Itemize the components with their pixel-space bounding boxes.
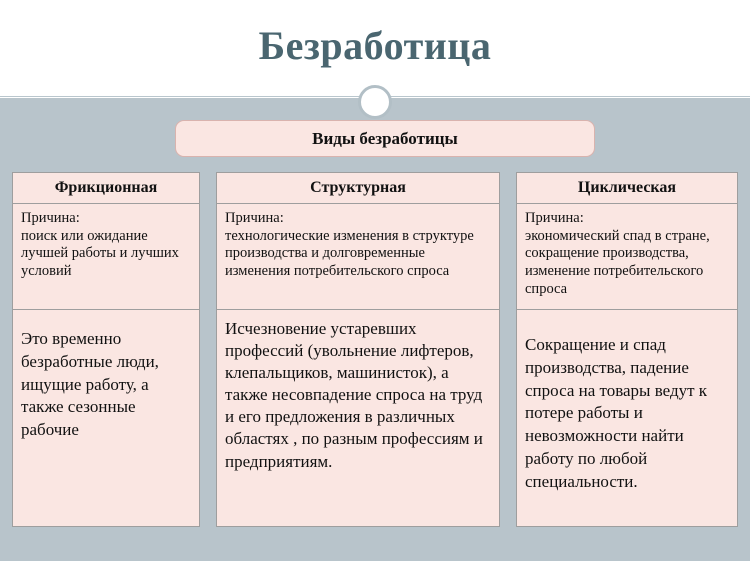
column-structural-description: Исчезновение устаревших профессий (уволь… [216, 310, 500, 527]
diagram-root-label: Виды безработицы [312, 129, 458, 149]
column-cyclical: Циклическая Причина: экономический спад … [516, 172, 738, 527]
column-frictional-cause: Причина: поиск или ожидание лучшей работ… [12, 204, 200, 310]
connector-branch-right [626, 164, 628, 172]
column-cyclical-heading: Циклическая [516, 172, 738, 204]
cause-label: Причина: [225, 210, 491, 228]
slide-root: Безработица Виды безработицы Фрикционная… [0, 0, 750, 561]
diagram-root-node: Виды безработицы [175, 120, 595, 157]
column-structural-heading: Структурная [216, 172, 500, 204]
column-frictional-heading: Фрикционная [12, 172, 200, 204]
column-frictional-description: Это временно безработные люди, ищущие ра… [12, 310, 200, 527]
column-cyclical-description: Сокращение и спад производства, падение … [516, 310, 738, 527]
slide-header: Безработица [0, 0, 750, 97]
column-cyclical-cause: Причина: экономический спад в стране, со… [516, 204, 738, 310]
column-structural-cause: Причина: технологические изменения в стр… [216, 204, 500, 310]
cause-label: Причина: [525, 210, 729, 228]
circle-ornament-icon [358, 85, 392, 119]
connector-branch-center [357, 164, 359, 172]
page-title: Безработица [0, 22, 750, 69]
column-structural: Структурная Причина: технологические изм… [216, 172, 500, 527]
connector-branch-left [105, 164, 107, 172]
column-frictional: Фрикционная Причина: поиск или ожидание … [12, 172, 200, 527]
connector-horizontal [106, 164, 664, 166]
cause-text: технологические изменения в структуре пр… [225, 228, 491, 281]
cause-label: Причина: [21, 210, 191, 228]
cause-text: поиск или ожидание лучшей работы и лучши… [21, 228, 191, 281]
cause-text: экономический спад в стране, сокращение … [525, 228, 729, 299]
